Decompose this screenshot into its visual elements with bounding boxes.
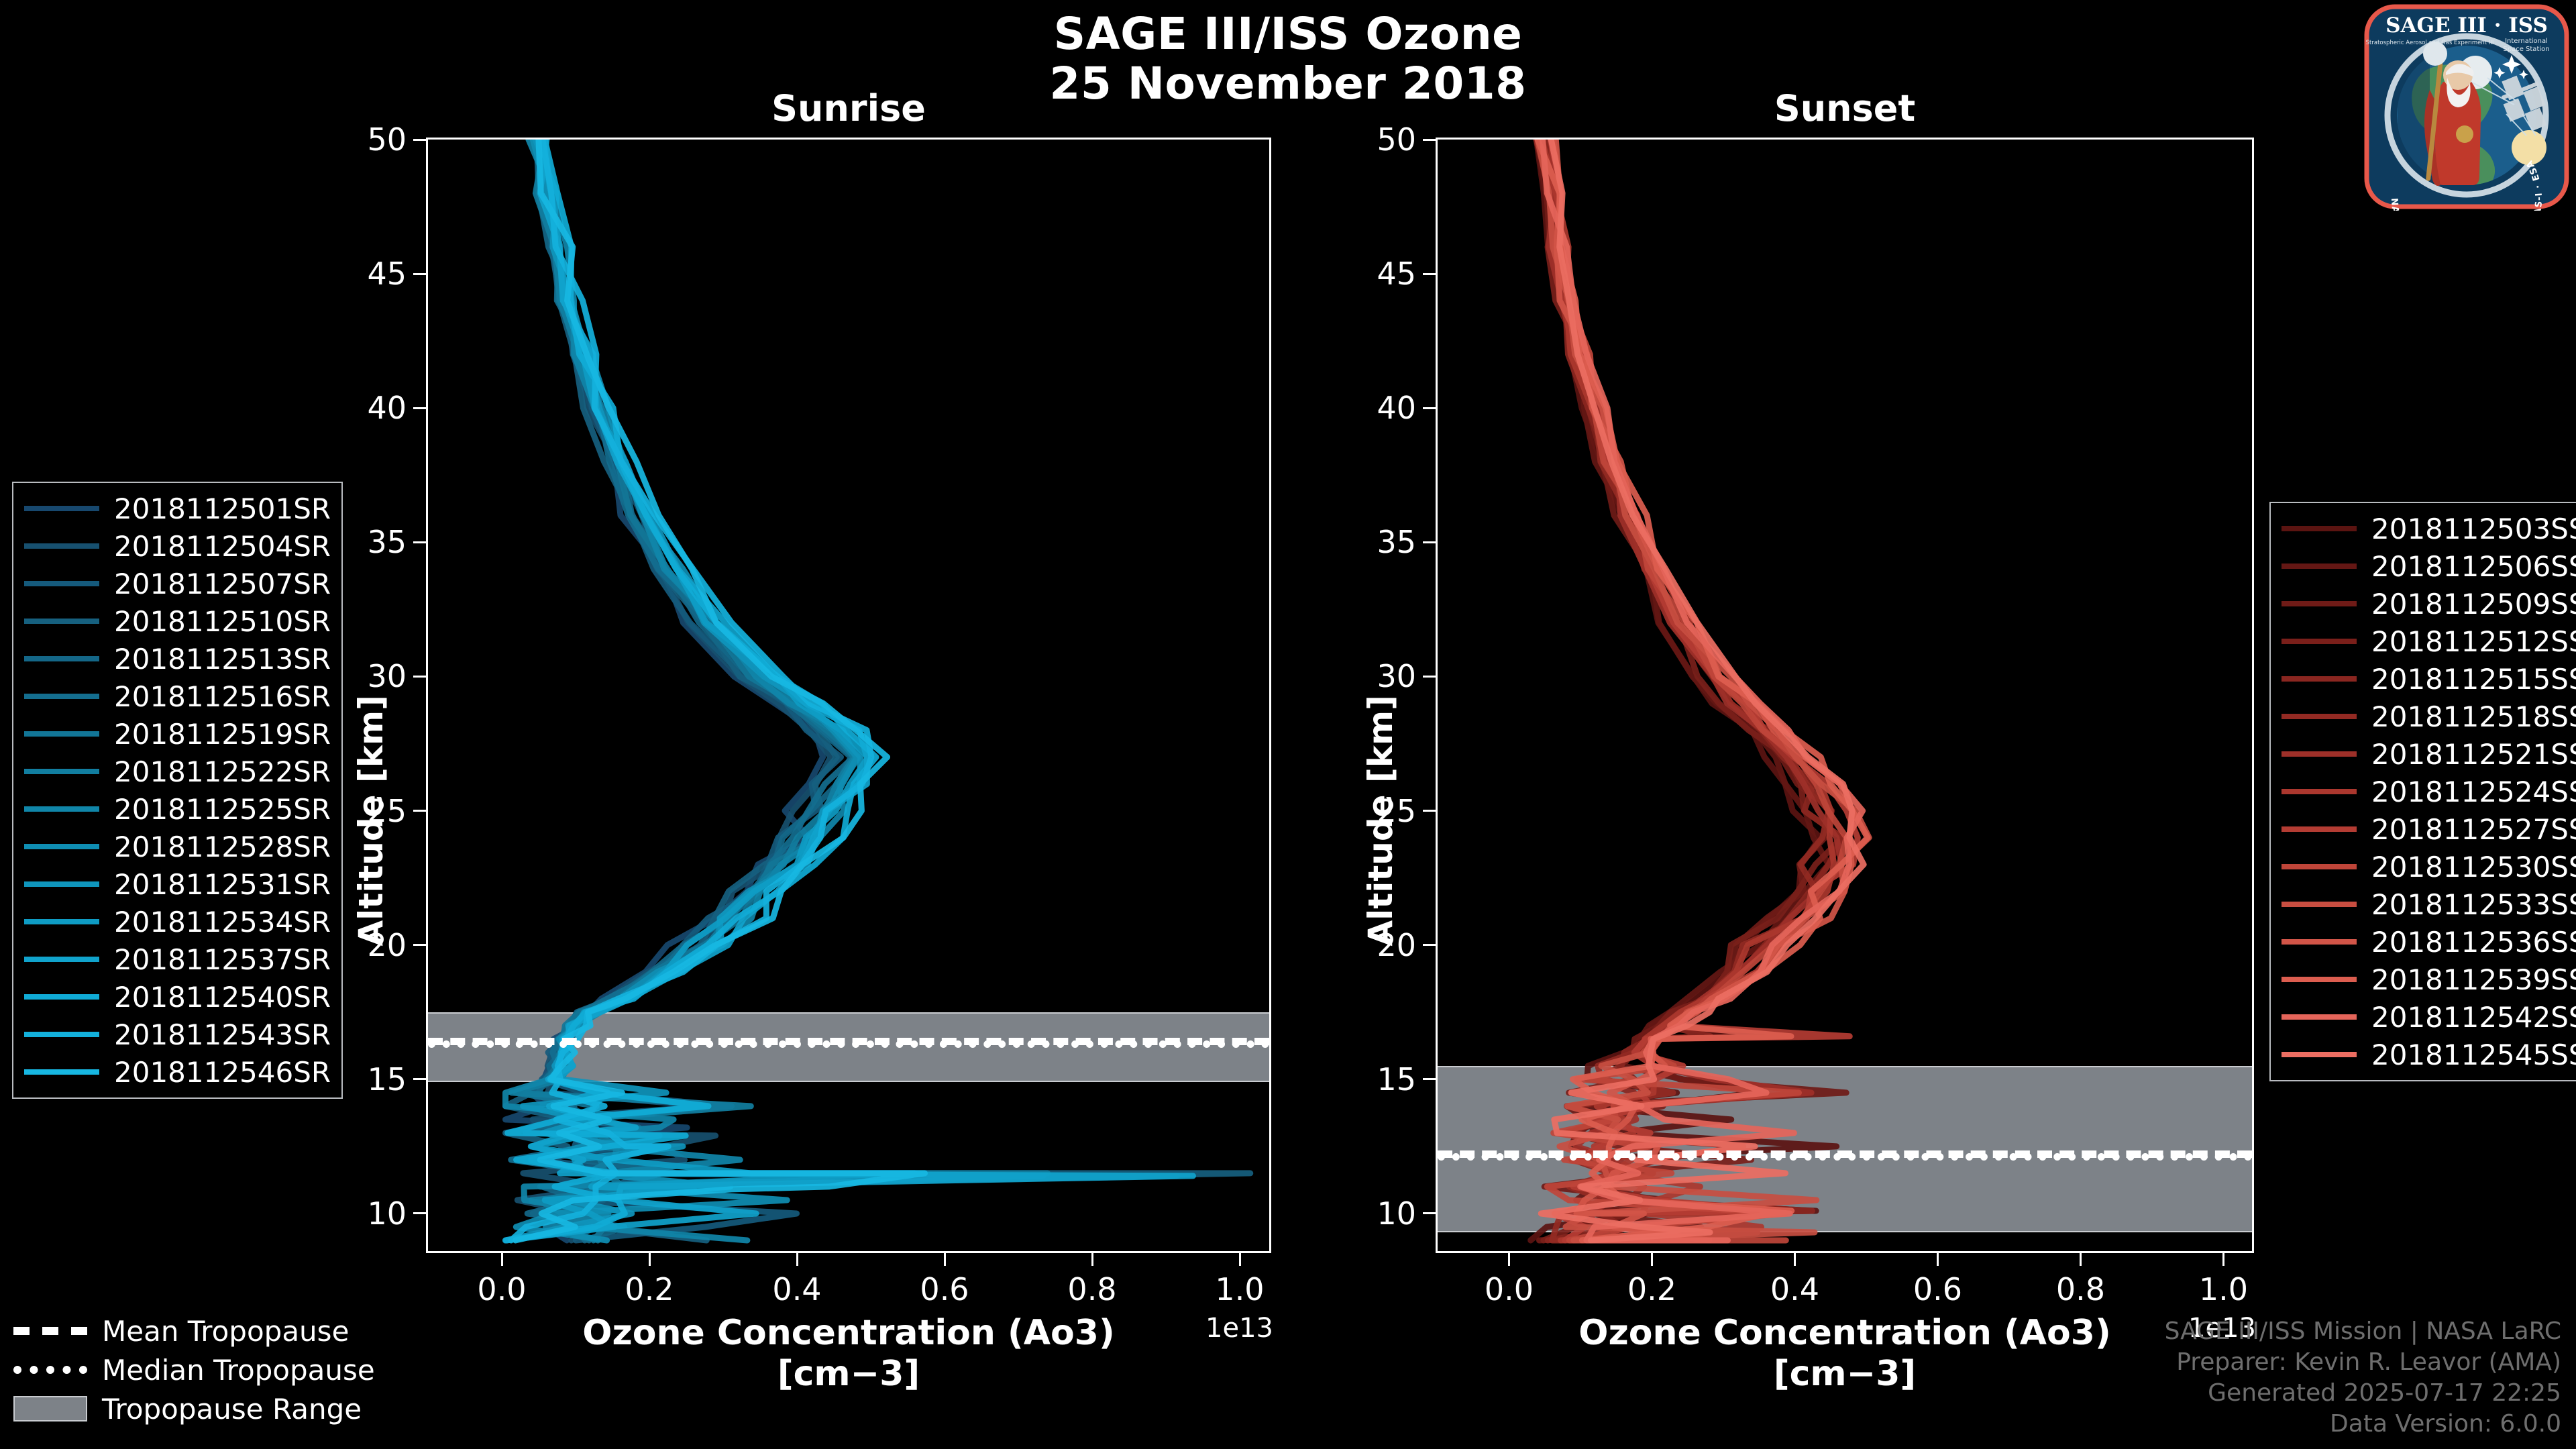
legend-color-swatch: [24, 581, 99, 586]
credit-data-version: Data Version: 6.0.0: [2165, 1409, 2561, 1440]
y-axis-tick-label: 40: [1377, 390, 1416, 426]
sunset-legend-item[interactable]: 2018112542SS: [2282, 998, 2576, 1036]
legend-item-label: 2018112546SR: [114, 1056, 331, 1089]
legend-color-swatch: [24, 844, 99, 849]
sunrise-legend-item[interactable]: 2018112519SR: [24, 715, 331, 753]
sunrise-legend: 2018112501SR2018112504SR2018112507SR2018…: [12, 482, 343, 1099]
legend-color-swatch: [2282, 601, 2357, 606]
legend-color-swatch: [24, 506, 99, 511]
sunrise-legend-item[interactable]: 2018112504SR: [24, 527, 331, 565]
y-axis-tick: [1423, 139, 1438, 141]
y-axis-tick-label: 25: [1377, 793, 1416, 829]
sunrise-legend-item[interactable]: 2018112540SR: [24, 978, 331, 1016]
logo-subtitle-right-1: International: [2505, 38, 2548, 45]
profile-line: [506, 140, 1193, 1240]
sunrise-legend-item[interactable]: 2018112516SR: [24, 678, 331, 715]
sunrise-legend-item[interactable]: 2018112543SR: [24, 1016, 331, 1053]
y-axis-tick-label: 30: [1377, 658, 1416, 694]
sunset-profile-lines: [1438, 140, 2252, 1251]
sunset-legend-item[interactable]: 2018112521SS: [2282, 735, 2576, 773]
y-axis-tick-label: 45: [1377, 256, 1416, 292]
x-axis-tick: [501, 1251, 503, 1266]
sunset-legend-item[interactable]: 2018112533SS: [2282, 885, 2576, 923]
y-axis-tick: [413, 139, 428, 141]
y-axis-tick-label: 35: [1377, 524, 1416, 560]
legend-item-label: 2018112534SR: [114, 906, 331, 938]
sunrise-x-axis-label: Ozone Concentration (Ao3) [cm−3]: [428, 1313, 1269, 1395]
legend-item-label: 2018112507SR: [114, 568, 331, 600]
legend-color-swatch: [2282, 751, 2357, 757]
legend-color-swatch: [24, 1069, 99, 1075]
tropopause-legend-swatch: [13, 1396, 87, 1421]
legend-item-label: 2018112510SR: [114, 605, 331, 638]
legend-color-swatch: [24, 619, 99, 624]
y-axis-tick: [413, 944, 428, 946]
legend-color-swatch: [2282, 1052, 2357, 1057]
legend-color-swatch: [24, 694, 99, 699]
y-axis-tick: [413, 676, 428, 678]
legend-color-swatch: [24, 731, 99, 737]
legend-item-label: 2018112524SS: [2371, 775, 2576, 808]
y-axis-tick: [1423, 273, 1438, 275]
x-axis-tick-label: 1.0: [1215, 1271, 1264, 1307]
y-axis-tick: [1423, 1078, 1438, 1080]
legend-item-label: 2018112543SR: [114, 1018, 331, 1051]
x-axis-tick: [2080, 1251, 2082, 1266]
y-axis-tick: [413, 1212, 428, 1214]
legend-color-swatch: [2282, 1014, 2357, 1020]
title-line-1: SAGE III/ISS Ozone: [0, 9, 2576, 59]
x-axis-tick-label: 1.0: [2199, 1271, 2248, 1307]
credit-mission: SAGE III/ISS Mission | NASA LaRC: [2165, 1316, 2561, 1347]
legend-color-swatch: [2282, 977, 2357, 982]
x-axis-tick: [796, 1251, 798, 1266]
sunrise-legend-item[interactable]: 2018112537SR: [24, 941, 331, 978]
y-axis-tick-label: 15: [367, 1061, 407, 1097]
legend-item-label: 2018112528SR: [114, 830, 331, 863]
legend-item-label: 2018112539SS: [2371, 963, 2576, 996]
y-axis-tick: [413, 810, 428, 812]
x-axis-tick-label: 0.0: [1485, 1271, 1534, 1307]
sunrise-legend-item[interactable]: 2018112501SR: [24, 490, 331, 527]
legend-item-label: 2018112536SS: [2371, 926, 2576, 959]
x-axis-tick: [1239, 1251, 1241, 1266]
sunset-legend-item[interactable]: 2018112545SS: [2282, 1036, 2576, 1073]
logo-title: SAGE III · ISS: [2385, 13, 2548, 38]
legend-item-label: 2018112516SR: [114, 680, 331, 713]
legend-color-swatch: [2282, 902, 2357, 907]
x-axis-tick-label: 0.6: [920, 1271, 969, 1307]
x-axis-tick: [1091, 1251, 1093, 1266]
tropopause-legend-item: Tropopause Range: [13, 1389, 375, 1428]
y-axis-tick-label: 30: [367, 658, 407, 694]
sunset-x-axis-label: Ozone Concentration (Ao3) [cm−3]: [1438, 1313, 2252, 1395]
legend-color-swatch: [2282, 676, 2357, 682]
sage-iii-iss-logo-icon: SAGE III · ISS Stratospheric Aerosol and…: [2363, 3, 2571, 211]
sunset-legend-item[interactable]: 2018112503SS: [2282, 510, 2576, 547]
legend-color-swatch: [2282, 864, 2357, 869]
y-axis-tick: [1423, 1212, 1438, 1214]
legend-item-label: 2018112527SS: [2371, 813, 2576, 846]
sunset-legend-item[interactable]: 2018112527SS: [2282, 810, 2576, 848]
x-axis-tick-label: 0.2: [625, 1271, 674, 1307]
legend-item-label: 2018112513SR: [114, 643, 331, 676]
credit-preparer: Preparer: Kevin R. Leavor (AMA): [2165, 1347, 2561, 1378]
x-axis-tick: [944, 1251, 946, 1266]
x-axis-tick: [1508, 1251, 1510, 1266]
y-axis-tick: [1423, 810, 1438, 812]
x-axis-tick: [1794, 1251, 1796, 1266]
sunset-legend-item[interactable]: 2018112515SS: [2282, 660, 2576, 698]
x-axis-tick-label: 0.6: [1913, 1271, 1962, 1307]
tropopause-legend-item: Median Tropopause: [13, 1350, 375, 1389]
legend-color-swatch: [24, 1032, 99, 1037]
tropopause-legend-label: Mean Tropopause: [102, 1315, 349, 1348]
legend-item-label: 2018112521SS: [2371, 738, 2576, 771]
legend-item-label: 2018112531SR: [114, 868, 331, 901]
sunset-legend-item[interactable]: 2018112524SS: [2282, 773, 2576, 810]
legend-color-swatch: [24, 656, 99, 661]
x-axis-tick-label: 0.0: [477, 1271, 526, 1307]
credits-block: SAGE III/ISS Mission | NASA LaRC Prepare…: [2165, 1316, 2561, 1440]
sunrise-legend-item[interactable]: 2018112546SR: [24, 1053, 331, 1091]
y-axis-tick: [1423, 407, 1438, 409]
legend-item-label: 2018112540SR: [114, 981, 331, 1014]
sunset-legend-item[interactable]: 2018112509SS: [2282, 585, 2576, 623]
sunset-plot-area: [1438, 140, 2252, 1251]
legend-color-swatch: [2282, 563, 2357, 569]
y-axis-tick: [1423, 676, 1438, 678]
legend-item-label: 2018112512SS: [2371, 625, 2576, 658]
sunset-subplot-title: Sunset: [1436, 87, 2254, 129]
legend-item-label: 2018112533SS: [2371, 888, 2576, 921]
sunset-legend-item[interactable]: 2018112536SS: [2282, 923, 2576, 961]
sunrise-legend-item[interactable]: 2018112510SR: [24, 602, 331, 640]
legend-color-swatch: [24, 957, 99, 962]
y-axis-tick: [413, 1078, 428, 1080]
sunset-legend-item[interactable]: 2018112539SS: [2282, 961, 2576, 998]
legend-color-swatch: [2282, 826, 2357, 832]
sunrise-legend-item[interactable]: 2018112528SR: [24, 828, 331, 865]
legend-color-swatch: [24, 543, 99, 549]
legend-color-swatch: [2282, 789, 2357, 794]
logo-subtitle-right-2: Space Station: [2503, 46, 2549, 53]
y-axis-tick-label: 20: [367, 927, 407, 963]
sunrise-x-offset-text: 1e13: [1205, 1313, 1273, 1344]
x-axis-tick: [1937, 1251, 1939, 1266]
sunrise-legend-item[interactable]: 2018112513SR: [24, 640, 331, 678]
legend-color-swatch: [2282, 714, 2357, 719]
x-axis-tick: [1651, 1251, 1653, 1266]
sunrise-mean-tropopause-line: [428, 1038, 1269, 1045]
y-axis-tick-label: 10: [367, 1195, 407, 1232]
legend-item-label: 2018112519SR: [114, 718, 331, 751]
y-axis-tick-label: 35: [367, 524, 407, 560]
x-axis-tick: [649, 1251, 651, 1266]
profile-line: [526, 140, 1177, 1240]
logo-subtitle-left: Stratospheric Aerosol and Gas Experiment…: [2366, 40, 2494, 46]
x-axis-tick: [2222, 1251, 2224, 1266]
sunrise-legend-item[interactable]: 2018112525SR: [24, 790, 331, 828]
sunrise-legend-item[interactable]: 2018112531SR: [24, 865, 331, 903]
credit-generated: Generated 2025-07-17 22:25: [2165, 1378, 2561, 1409]
y-axis-tick: [1423, 944, 1438, 946]
legend-color-swatch: [24, 994, 99, 1000]
legend-item-label: 2018112506SS: [2371, 550, 2576, 583]
tropopause-legend-label: Median Tropopause: [102, 1354, 375, 1387]
sunrise-plot-area: [428, 140, 1269, 1251]
sunset-legend: 2018112503SS2018112506SS2018112509SS2018…: [2269, 502, 2576, 1081]
sunset-legend-item[interactable]: 2018112518SS: [2282, 698, 2576, 735]
legend-color-swatch: [2282, 939, 2357, 945]
legend-item-label: 2018112545SS: [2371, 1038, 2576, 1071]
y-axis-tick-label: 50: [1377, 121, 1416, 158]
sunset-plot-axes: Altitude [km] Ozone Concentration (Ao3) …: [1436, 138, 2254, 1253]
x-axis-tick-label: 0.4: [1770, 1271, 1819, 1307]
sunrise-legend-item[interactable]: 2018112507SR: [24, 565, 331, 602]
sunrise-subplot-title: Sunrise: [426, 87, 1271, 129]
tropopause-legend-swatch: [13, 1366, 87, 1374]
sunset-mean-tropopause-line: [1438, 1150, 2252, 1158]
y-axis-tick: [413, 541, 428, 543]
y-axis-tick: [413, 273, 428, 275]
y-axis-tick-label: 50: [367, 121, 407, 158]
y-axis-tick-label: 20: [1377, 927, 1416, 963]
legend-item-label: 2018112537SR: [114, 943, 331, 976]
sunrise-legend-item[interactable]: 2018112522SR: [24, 753, 331, 790]
legend-item-label: 2018112518SS: [2371, 700, 2576, 733]
y-axis-tick-label: 10: [1377, 1195, 1416, 1232]
x-axis-tick-label: 0.8: [1067, 1271, 1116, 1307]
sunset-legend-item[interactable]: 2018112512SS: [2282, 623, 2576, 660]
legend-item-label: 2018112522SR: [114, 755, 331, 788]
tropopause-legend-swatch: [13, 1327, 87, 1335]
y-axis-tick: [1423, 541, 1438, 543]
legend-item-label: 2018112525SR: [114, 793, 331, 826]
tropopause-legend-label: Tropopause Range: [102, 1393, 362, 1426]
sunset-legend-item[interactable]: 2018112506SS: [2282, 547, 2576, 585]
legend-item-label: 2018112530SS: [2371, 851, 2576, 883]
y-axis-tick-label: 45: [367, 256, 407, 292]
tropopause-legend-item: Mean Tropopause: [13, 1311, 375, 1350]
legend-item-label: 2018112503SS: [2371, 513, 2576, 545]
legend-item-label: 2018112501SR: [114, 492, 331, 525]
tropopause-legend: Mean TropopauseMedian TropopauseTropopau…: [13, 1311, 375, 1428]
legend-color-swatch: [2282, 526, 2357, 531]
sunrise-legend-item[interactable]: 2018112534SR: [24, 903, 331, 941]
legend-item-label: 2018112542SS: [2371, 1001, 2576, 1034]
y-axis-tick-label: 15: [1377, 1061, 1416, 1097]
legend-color-swatch: [2282, 639, 2357, 644]
sunset-legend-item[interactable]: 2018112530SS: [2282, 848, 2576, 885]
legend-item-label: 2018112515SS: [2371, 663, 2576, 696]
legend-color-swatch: [24, 806, 99, 812]
legend-color-swatch: [24, 881, 99, 887]
x-axis-tick-label: 0.2: [1627, 1271, 1676, 1307]
x-axis-tick-label: 0.4: [772, 1271, 821, 1307]
x-axis-tick-label: 0.8: [2056, 1271, 2105, 1307]
legend-color-swatch: [24, 919, 99, 924]
legend-item-label: 2018112509SS: [2371, 588, 2576, 621]
sunrise-profile-lines: [428, 140, 1269, 1251]
legend-color-swatch: [24, 769, 99, 774]
legend-item-label: 2018112504SR: [114, 530, 331, 563]
y-axis-tick: [413, 407, 428, 409]
sunrise-plot-axes: Altitude [km] Ozone Concentration (Ao3) …: [426, 138, 1271, 1253]
profile-line: [506, 140, 1250, 1240]
y-axis-tick-label: 40: [367, 390, 407, 426]
y-axis-tick-label: 25: [367, 793, 407, 829]
